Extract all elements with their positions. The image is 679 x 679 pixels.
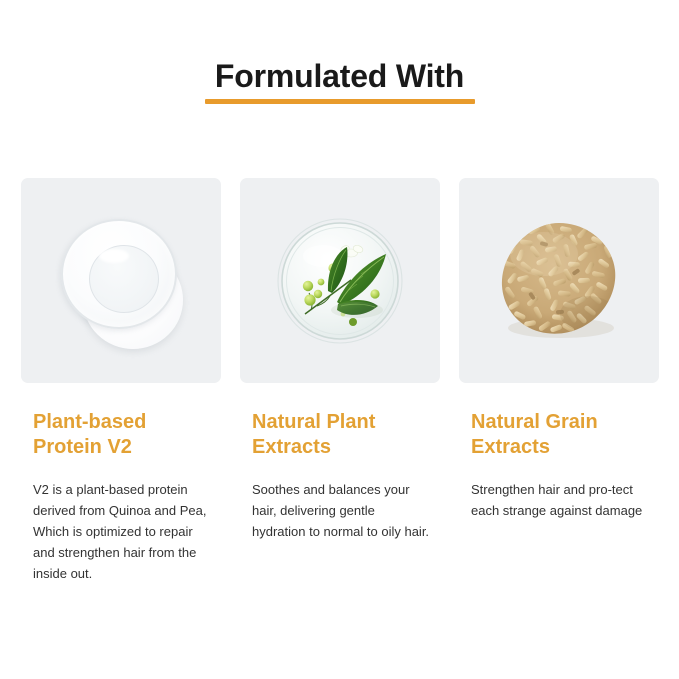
card-description: Soothes and balances your hair, deliveri… — [252, 479, 430, 542]
petri-dish-green-leaves-image — [265, 206, 415, 356]
card-heading: Natural Grain Extracts — [471, 410, 641, 460]
ingredient-card: Natural Grain Extracts Strengthen hair a… — [459, 178, 659, 584]
card-description: V2 is a plant-based protein derived from… — [33, 479, 211, 584]
page-header: Formulated With — [0, 57, 679, 104]
title-underline-rule — [205, 99, 475, 104]
card-text-block: Natural Plant Extracts Soothes and balan… — [240, 383, 440, 542]
card-heading: Plant-based Protein V2 — [33, 410, 203, 460]
page-title: Formulated With — [0, 57, 679, 95]
ingredient-card: Plant-based Protein V2 V2 is a plant-bas… — [21, 178, 221, 584]
card-text-block: Natural Grain Extracts Strengthen hair a… — [459, 383, 659, 521]
glass-dish-highlight — [99, 249, 129, 263]
grain-pile-image — [484, 206, 634, 356]
ingredient-card: Natural Plant Extracts Soothes and balan… — [240, 178, 440, 584]
card-description: Strengthen hair and pro-tect each strang… — [471, 479, 653, 521]
card-media-panel — [21, 178, 221, 383]
card-media-panel — [240, 178, 440, 383]
ingredient-card-row: Plant-based Protein V2 V2 is a plant-bas… — [21, 178, 658, 584]
glass-dish-rim — [61, 219, 177, 329]
grain-pile-illustration — [484, 206, 634, 356]
card-media-panel — [459, 178, 659, 383]
card-heading: Natural Plant Extracts — [252, 410, 422, 460]
card-text-block: Plant-based Protein V2 V2 is a plant-bas… — [21, 383, 221, 584]
petri-dish-illustration — [265, 206, 415, 356]
clear-glass-dish-image — [57, 211, 185, 351]
